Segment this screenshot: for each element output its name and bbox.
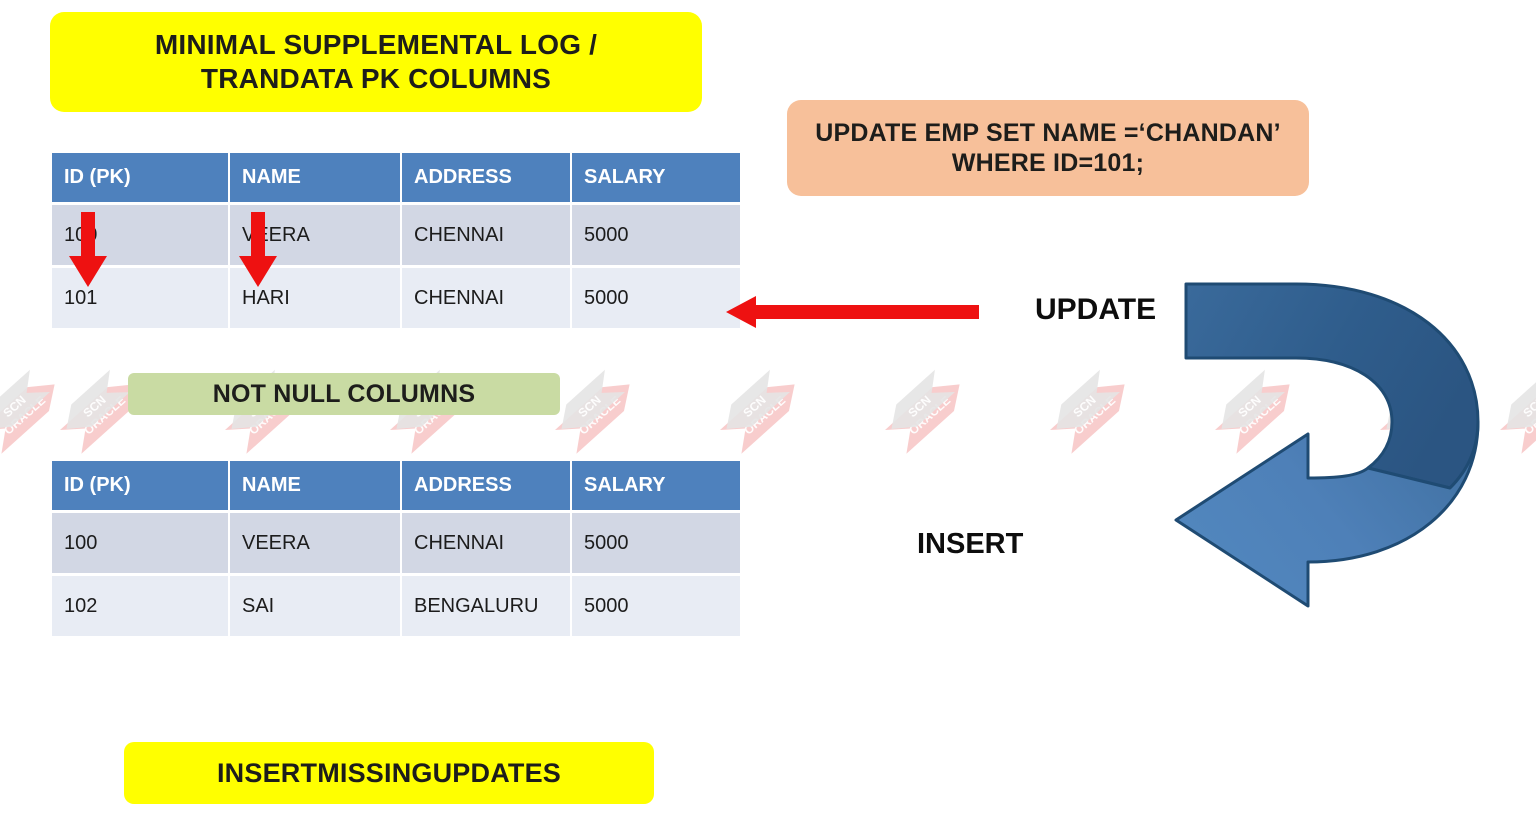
cell-address: BENGALURU [402, 576, 570, 636]
cell-name: SAI [230, 576, 400, 636]
banner-minimal-supplemental-log: MINIMAL SUPPLEMENTAL LOG / TRANDATA PK C… [50, 12, 702, 112]
column-header-address: ADDRESS [402, 153, 570, 202]
cell-address: CHENNAI [402, 268, 570, 328]
banner-not-null-columns: NOT NULL COLUMNS [128, 373, 560, 415]
cell-salary: 5000 [572, 513, 740, 573]
banner-title-line2: TRANDATA PK COLUMNS [155, 62, 597, 96]
slide-canvas: ORACLE SCN MINIMAL SUPP [0, 0, 1536, 824]
cell-salary: 5000 [572, 576, 740, 636]
column-header-name: NAME [230, 153, 400, 202]
cell-address: CHENNAI [402, 513, 570, 573]
banner-insertmissingupdates: INSERTMISSINGUPDATES [124, 742, 654, 804]
red-down-arrow-icon [68, 212, 108, 288]
column-header-name: NAME [230, 461, 400, 510]
table-header-row: ID (PK) NAME ADDRESS SALARY [52, 153, 740, 202]
banner-title-line1: MINIMAL SUPPLEMENTAL LOG / [155, 28, 597, 62]
column-header-id: ID (PK) [52, 153, 228, 202]
banner-update-sql-statement: UPDATE EMP SET NAME =‘CHANDAN’ WHERE ID=… [787, 100, 1309, 196]
column-header-address: ADDRESS [402, 461, 570, 510]
cell-id: 102 [52, 576, 228, 636]
table-row: 100 VEERA CHENNAI 5000 [52, 205, 740, 265]
sql-line1: UPDATE EMP SET NAME =‘CHANDAN’ [815, 118, 1281, 149]
blue-u-turn-arrow-icon [1170, 272, 1500, 632]
cell-id: 100 [52, 513, 228, 573]
table-row: 101 HARI CHENNAI 5000 [52, 268, 740, 328]
cell-salary: 5000 [572, 268, 740, 328]
label-insert: INSERT [917, 528, 1023, 561]
table-row: 100 VEERA CHENNAI 5000 [52, 513, 740, 573]
red-down-arrow-icon [238, 212, 278, 288]
column-header-salary: SALARY [572, 153, 740, 202]
table-row: 102 SAI BENGALURU 5000 [52, 576, 740, 636]
column-header-salary: SALARY [572, 461, 740, 510]
red-left-arrow-icon [726, 292, 980, 332]
column-header-id: ID (PK) [52, 461, 228, 510]
sql-line2: WHERE ID=101; [815, 148, 1281, 179]
cell-salary: 5000 [572, 205, 740, 265]
table-header-row: ID (PK) NAME ADDRESS SALARY [52, 461, 740, 510]
table-minimal-supplemental-log: ID (PK) NAME ADDRESS SALARY 100 VEERA CH… [50, 150, 742, 331]
cell-name: VEERA [230, 513, 400, 573]
cell-address: CHENNAI [402, 205, 570, 265]
label-update: UPDATE [1035, 293, 1156, 327]
table-not-null-columns: ID (PK) NAME ADDRESS SALARY 100 VEERA CH… [50, 458, 742, 639]
